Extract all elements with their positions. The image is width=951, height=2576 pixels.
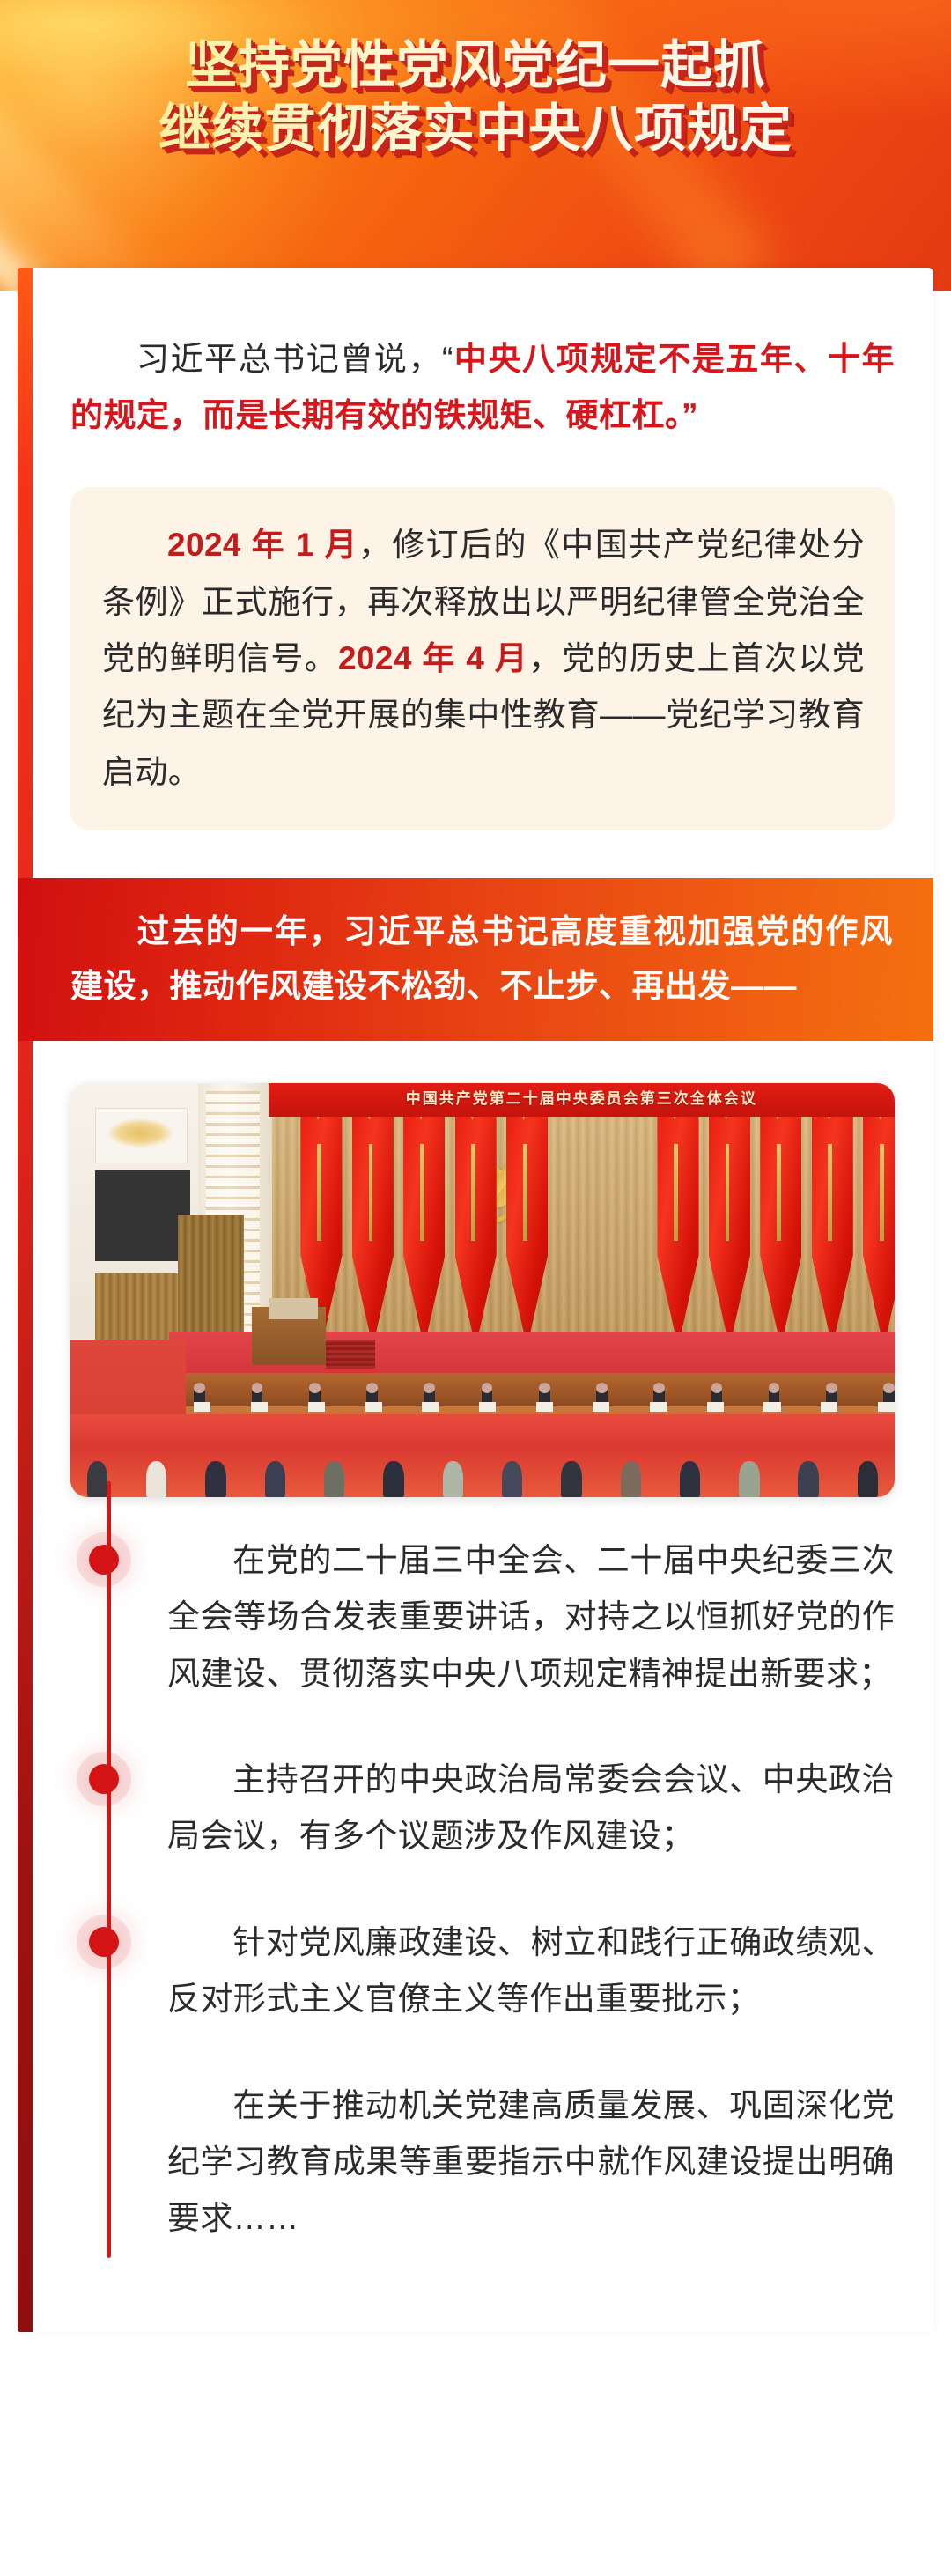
photo-attendee xyxy=(858,1461,878,1497)
photo-canvas: 中国共产党第二十届中央委员会第三次全体会议 xyxy=(70,1083,895,1497)
list-item: 在关于推动机关党建高质量发展、巩固深化党纪学习教育成果等重要指示中就作风建设提出… xyxy=(167,2078,895,2297)
photo-attendee xyxy=(265,1461,285,1497)
photo-attendee xyxy=(680,1461,700,1497)
infographic-page: 坚持党性党风党纪一起抓 继续贯彻落实中央八项规定 习近平总书记曾说，“中央八项规… xyxy=(0,0,951,2576)
photo-attendee xyxy=(443,1461,463,1497)
photo-audience-row xyxy=(87,1439,879,1497)
photo-dark-panel xyxy=(95,1170,190,1261)
red-flag xyxy=(709,1106,750,1347)
timeline-summary-box: 2024 年 1 月，修订后的《中国共产党纪律处分条例》正式施行，再次释放出以严… xyxy=(70,487,895,830)
title-line-1: 坚持党性党风党纪一起抓 xyxy=(0,33,951,97)
red-flag xyxy=(403,1106,445,1347)
photo-attendee xyxy=(502,1461,522,1497)
content-card: 习近平总书记曾说，“中央八项规定不是五年、十年的规定，而是长期有效的铁规矩、硬杠… xyxy=(18,268,933,2332)
list-item-text-wrap: 在党的二十届三中全会、二十届中央纪委三次全会等场合发表重要讲话，对持之以恒抓好党… xyxy=(167,1532,895,1702)
list-item: 针对党风廉政建设、树立和践行正确政绩观、反对形式主义官僚主义等作出重要批示； xyxy=(167,1915,895,2078)
year-highlight-2: 2024 年 4 月 xyxy=(338,640,528,676)
card-inner: 习近平总书记曾说，“中央八项规定不是五年、十年的规定，而是长期有效的铁规矩、硬杠… xyxy=(18,268,933,2297)
red-flag xyxy=(760,1106,801,1347)
list-item-text: 针对党风廉政建设、树立和践行正确政绩观、反对形式主义官僚主义等作出重要批示； xyxy=(167,1924,895,2017)
list-item-text: 在党的二十届三中全会、二十届中央纪委三次全会等场合发表重要讲话，对持之以恒抓好党… xyxy=(167,1542,895,1692)
photo-attendee xyxy=(383,1461,403,1497)
red-banner-text: 过去的一年，习近平总书记高度重视加强党的作风建设，推动作风建设不松劲、不止步、再… xyxy=(70,913,893,1003)
list-item-text-wrap: 主持召开的中央政治局常委会会议、中央政治局会议，有多个议题涉及作风建设； xyxy=(167,1752,895,1865)
photo-attendee xyxy=(739,1461,759,1497)
title-line-2: 继续贯彻落实中央八项规定 xyxy=(0,97,951,160)
quote-lead: 习近平总书记曾说，“ xyxy=(136,341,453,377)
meeting-photo: 中国共产党第二十届中央委员会第三次全体会议 xyxy=(70,1083,895,1497)
photo-attendee xyxy=(87,1461,107,1497)
list-item: 在党的二十届三中全会、二十届中央纪委三次全会等场合发表重要讲话，对持之以恒抓好党… xyxy=(167,1532,895,1752)
timeline-dot-icon xyxy=(89,1927,119,1957)
red-flag xyxy=(455,1106,497,1347)
photo-attendee xyxy=(146,1461,166,1497)
list-item-text: 主持召开的中央政治局常委会会议、中央政治局会议，有多个议题涉及作风建设； xyxy=(167,1761,895,1854)
list-item-text-wrap: 在关于推动机关党建高质量发展、巩固深化党纪学习教育成果等重要指示中就作风建设提出… xyxy=(167,2078,895,2248)
timeline-list: 在党的二十届三中全会、二十届中央纪委三次全会等场合发表重要讲话，对持之以恒抓好党… xyxy=(70,1532,895,2297)
leader-quote-block: 习近平总书记曾说，“中央八项规定不是五年、十年的规定，而是长期有效的铁规矩、硬杠… xyxy=(70,268,895,443)
page-header: 坚持党性党风党纪一起抓 继续贯彻落实中央八项规定 xyxy=(0,0,951,291)
page-title: 坚持党性党风党纪一起抓 继续贯彻落实中央八项规定 xyxy=(0,33,951,160)
photo-banner-text: 中国共产党第二十届中央委员会第三次全体会议 xyxy=(269,1083,895,1117)
photo-attendee xyxy=(621,1461,641,1497)
timeline-vertical-line xyxy=(107,1481,111,2258)
list-item-text-wrap: 针对党风廉政建设、树立和践行正确政绩观、反对形式主义官僚主义等作出重要批示； xyxy=(167,1915,895,2028)
photo-stage-steps xyxy=(326,1340,375,1369)
photo-attendee xyxy=(798,1461,818,1497)
photo-gold-ornament xyxy=(107,1118,173,1148)
red-flag xyxy=(352,1106,394,1347)
photo-podium-top xyxy=(269,1298,318,1319)
red-flag xyxy=(657,1106,698,1347)
photo-desk-papers xyxy=(194,1402,895,1412)
timeline-dot-icon xyxy=(89,1764,119,1794)
photo-flags-right xyxy=(499,1096,895,1352)
year-highlight-1: 2024 年 1 月 xyxy=(167,527,358,563)
photo-attendee xyxy=(205,1461,225,1497)
red-flag xyxy=(812,1106,853,1347)
photo-attendee xyxy=(324,1461,344,1497)
list-item: 主持召开的中央政治局常委会会议、中央政治局会议，有多个议题涉及作风建设； xyxy=(167,1752,895,1915)
list-item-text: 在关于推动机关党建高质量发展、巩固深化党纪学习教育成果等重要指示中就作风建设提出… xyxy=(167,2087,895,2237)
red-flag xyxy=(863,1106,895,1347)
red-highlight-banner: 过去的一年，习近平总书记高度重视加强党的作风建设，推动作风建设不松劲、不止步、再… xyxy=(18,878,933,1041)
timeline-dot-icon xyxy=(89,1545,119,1575)
photo-attendee xyxy=(561,1461,581,1497)
